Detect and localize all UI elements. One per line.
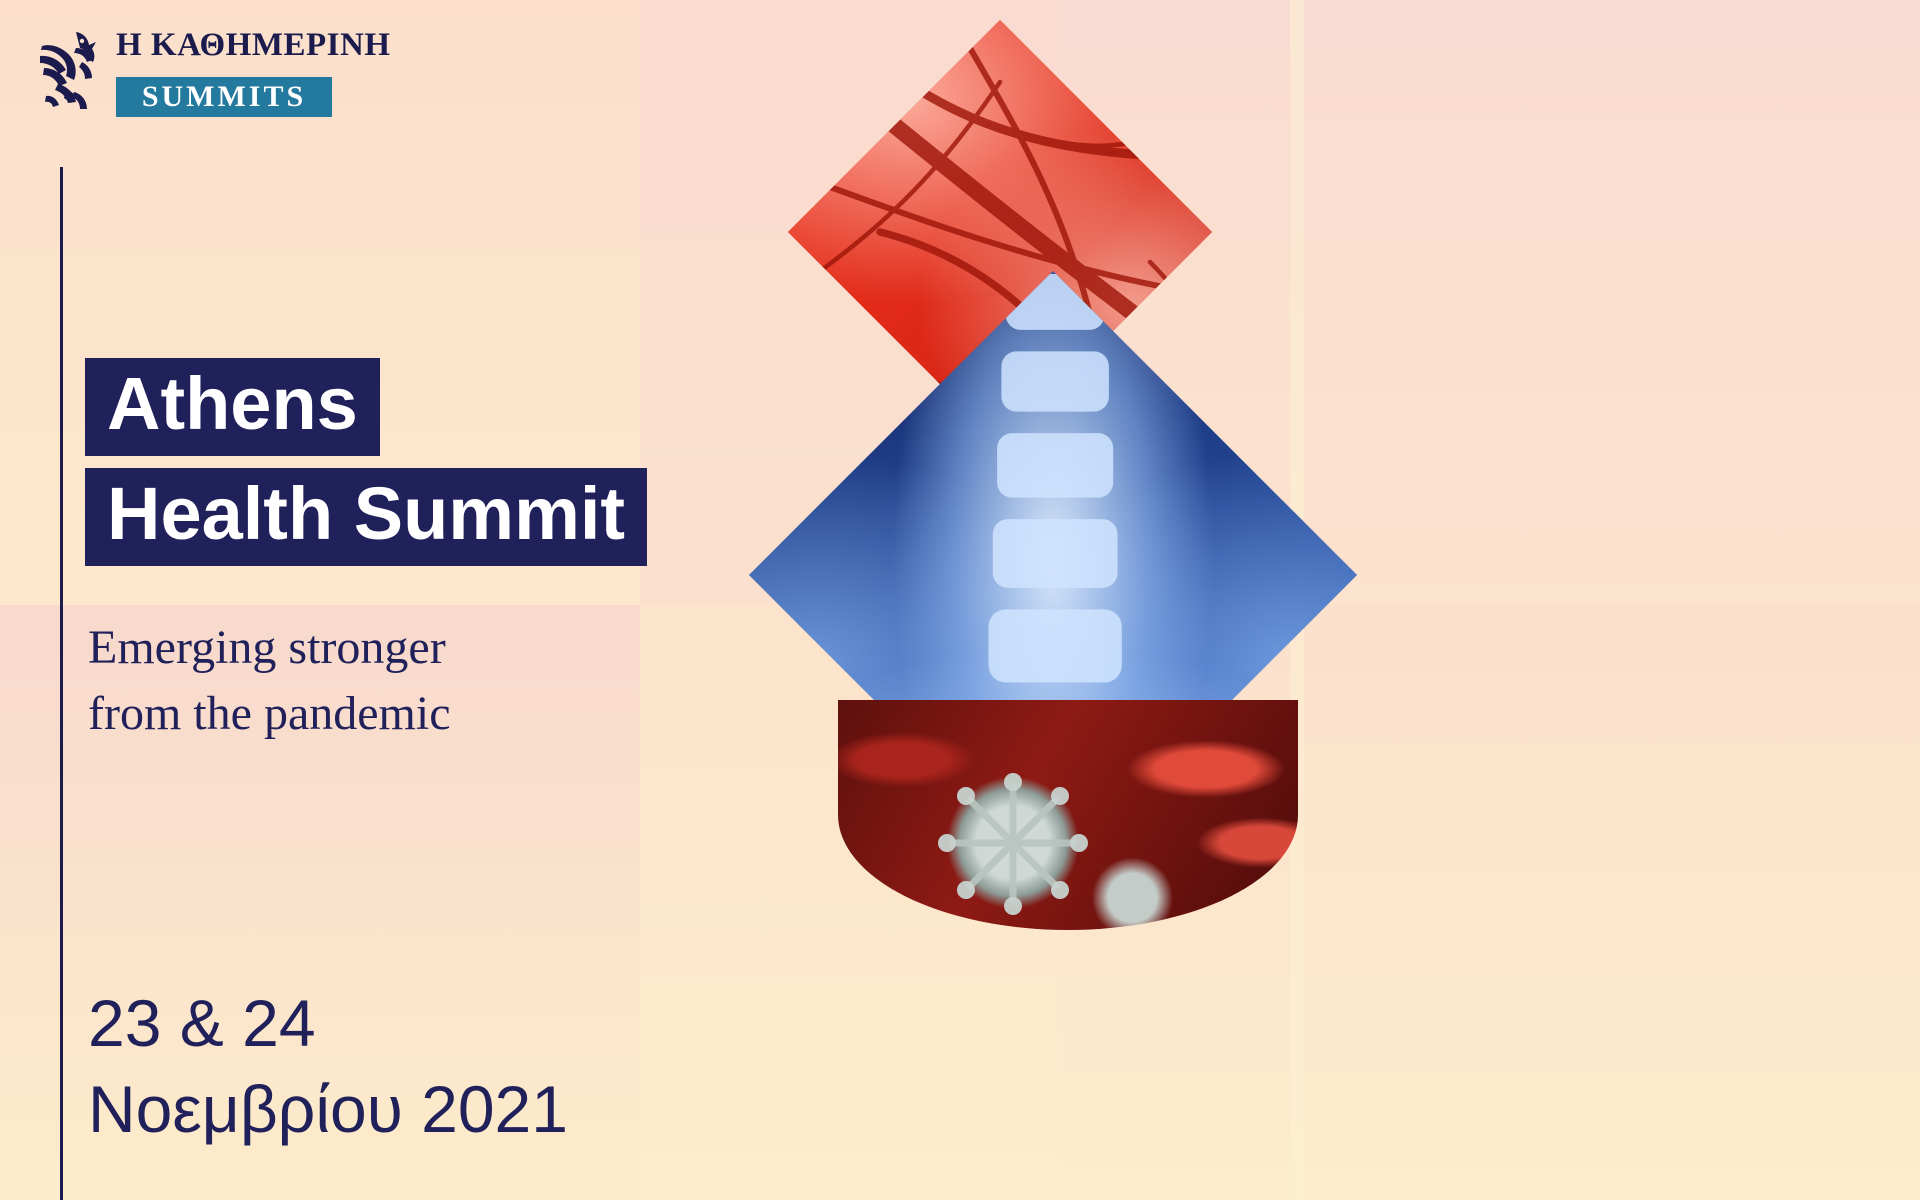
- semicircle-virus-cells: [838, 700, 1298, 930]
- coronavirus-spikes-icon: [838, 700, 1298, 930]
- date-line-2: Νοεμβρίου 2021: [88, 1066, 708, 1152]
- griffin-icon: [32, 26, 106, 110]
- logo-publisher-text: Η ΚΑΘΗΜΕΡΙΝΗ: [116, 22, 391, 68]
- kathimerini-summits-logo[interactable]: Η ΚΑΘΗΜΕΡΙΝΗ SUMMITS: [32, 22, 332, 114]
- logo-series-text: SUMMITS: [116, 77, 332, 117]
- artwork-composition: [820, 40, 1300, 1180]
- vertical-rule: [60, 167, 63, 1200]
- headline-line-1: Athens: [85, 358, 380, 456]
- tagline: Emerging stronger from the pandemic: [88, 615, 608, 747]
- tagline-line-1: Emerging stronger: [88, 615, 608, 681]
- event-date: 23 & 24 Νοεμβρίου 2021: [88, 980, 708, 1152]
- poster: Η ΚΑΘΗΜΕΡΙΝΗ SUMMITS Athens Health Summi…: [0, 0, 1920, 1200]
- tagline-line-2: from the pandemic: [88, 681, 608, 747]
- headline-line-2: Health Summit: [85, 468, 647, 566]
- date-line-1: 23 & 24: [88, 980, 708, 1066]
- logo-summits-band: SUMMITS: [116, 77, 332, 117]
